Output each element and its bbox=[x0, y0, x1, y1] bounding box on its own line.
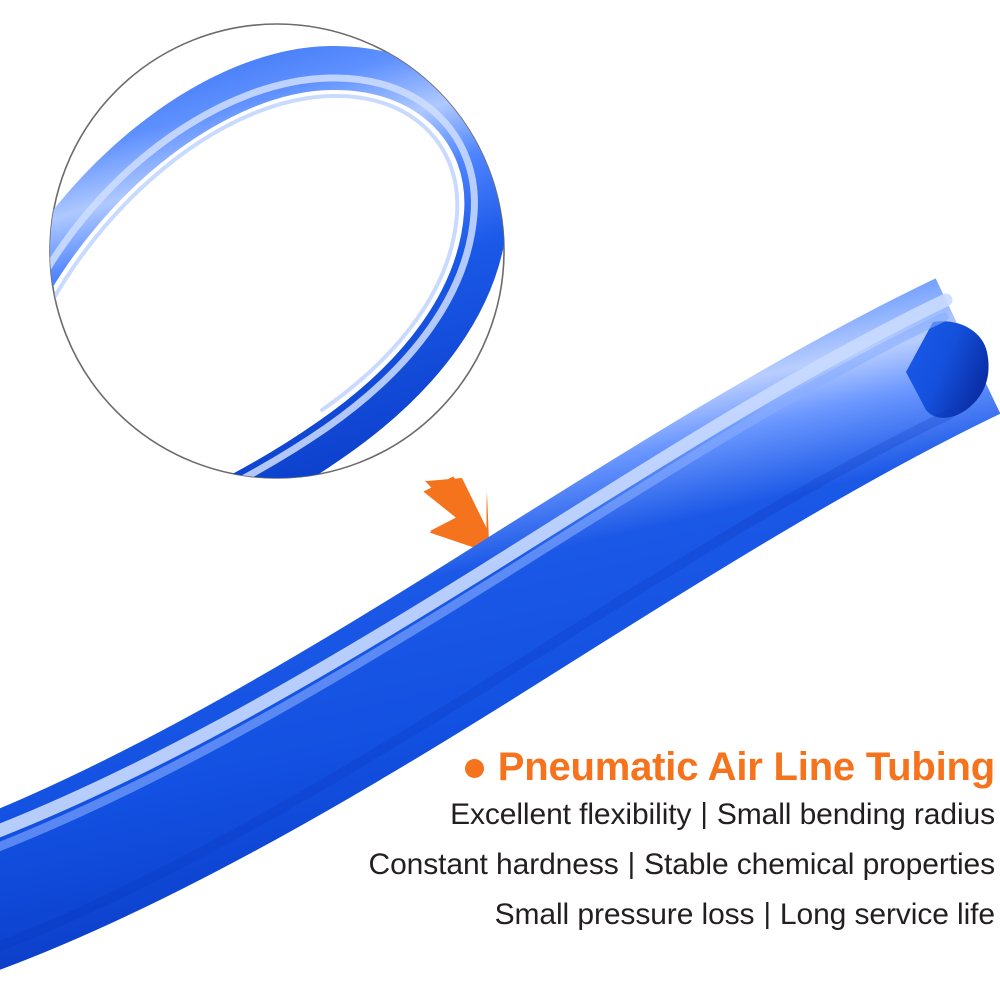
product-image-canvas: Pneumatic Air Line Tubing Excellent flex… bbox=[0, 0, 1000, 1000]
feature-line-3: Small pressure loss|Long service life bbox=[250, 890, 995, 940]
feature-3-separator: | bbox=[754, 889, 779, 939]
feature-3-left: Small pressure loss bbox=[495, 898, 755, 931]
feature-line-1: Excellent flexibility|Small bending radi… bbox=[250, 790, 995, 840]
feature-1-left: Excellent flexibility bbox=[450, 798, 691, 831]
feature-1-right: Small bending radius bbox=[717, 798, 995, 831]
bullet-point-icon bbox=[465, 759, 484, 778]
product-title: Pneumatic Air Line Tubing bbox=[498, 747, 995, 787]
feature-2-separator: | bbox=[619, 839, 644, 889]
feature-3-right: Long service life bbox=[780, 898, 995, 931]
feature-line-2: Constant hardness|Stable chemical proper… bbox=[250, 840, 995, 890]
product-title-row: Pneumatic Air Line Tubing bbox=[250, 744, 995, 790]
feature-2-right: Stable chemical properties bbox=[644, 848, 995, 881]
feature-text-block: Pneumatic Air Line Tubing Excellent flex… bbox=[250, 744, 995, 940]
feature-2-left: Constant hardness bbox=[369, 848, 619, 881]
feature-1-separator: | bbox=[691, 789, 716, 839]
